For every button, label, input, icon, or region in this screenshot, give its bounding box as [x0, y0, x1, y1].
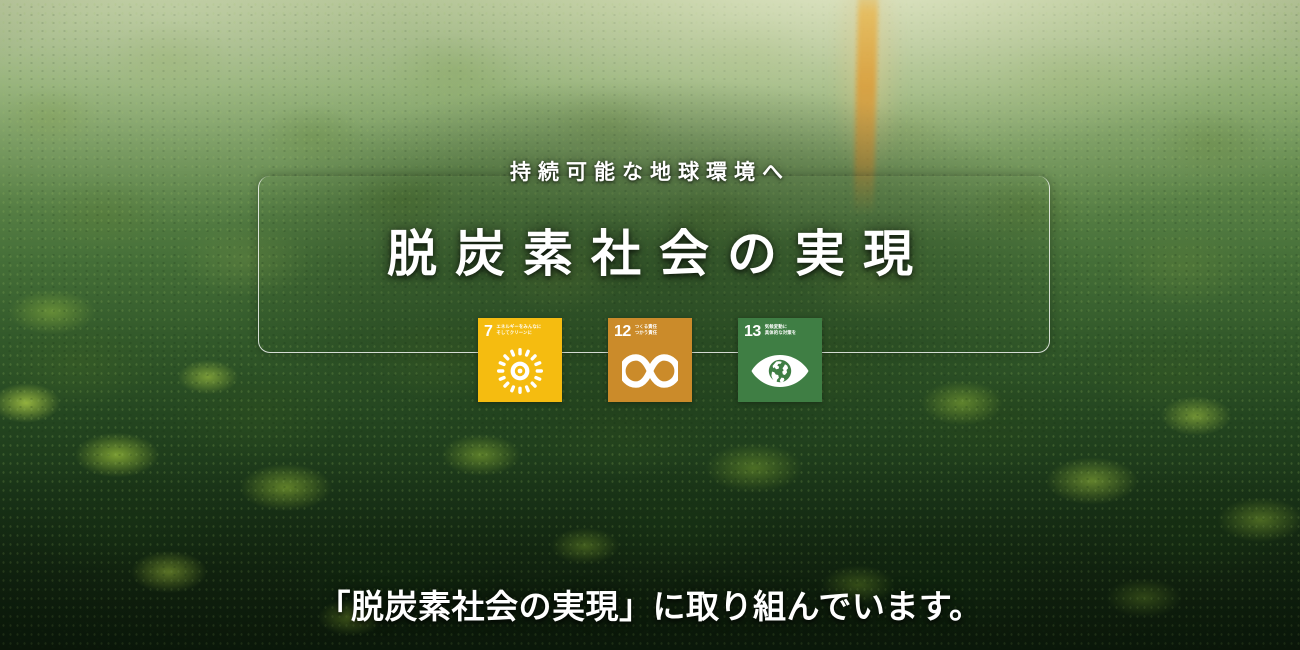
sdg-tile-7-number: 7 — [484, 324, 492, 340]
hero-caption: 「脱炭素社会の実現」に取り組んでいます。 — [0, 580, 1300, 628]
sdg-tile-12[interactable]: 12 つくる責任 つかう責任 — [608, 318, 692, 402]
sdg-tile-13[interactable]: 13 気候変動に 具体的な対策を — [738, 318, 822, 402]
hero-content: 持続可能な地球環境へ 脱炭素社会の実現 7 エネルギーをみんなに そしてクリーン… — [0, 0, 1300, 650]
sdg-tile-13-label: 気候変動に 具体的な対策を — [765, 324, 796, 336]
hero-eyebrow: 持続可能な地球環境へ — [0, 156, 1300, 186]
sdg-tile-13-label-line2: 具体的な対策を — [765, 331, 796, 336]
sdg-tile-13-label-line1: 気候変動に — [765, 325, 796, 330]
hero-headline: 脱炭素社会の実現 — [0, 227, 1300, 282]
sdg-tile-12-label-line2: つかう責任 — [635, 331, 657, 336]
sdg-tile-7-head: 7 エネルギーをみんなに そしてクリーンに — [478, 318, 562, 344]
sdg-tile-12-label: つくる責任 つかう責任 — [635, 324, 657, 336]
sun-icon — [478, 344, 562, 402]
sdg-tile-12-number: 12 — [614, 324, 631, 340]
sdg-tile-7-label: エネルギーをみんなに そしてクリーンに — [496, 324, 541, 336]
sdg-tile-7[interactable]: 7 エネルギーをみんなに そしてクリーンに — [478, 318, 562, 402]
infinity-loop-icon — [608, 344, 692, 402]
eye-globe-icon — [738, 344, 822, 402]
sdg-tile-12-label-line1: つくる責任 — [635, 325, 657, 330]
sdg-goal-row: 7 エネルギーをみんなに そしてクリーンに — [478, 318, 822, 402]
sdg-tile-13-head: 13 気候変動に 具体的な対策を — [738, 318, 822, 344]
hero-banner: 持続可能な地球環境へ 脱炭素社会の実現 7 エネルギーをみんなに そしてクリーン… — [0, 0, 1300, 650]
sdg-tile-13-number: 13 — [744, 324, 761, 340]
sdg-tile-7-label-line2: そしてクリーンに — [496, 331, 541, 336]
sdg-tile-12-head: 12 つくる責任 つかう責任 — [608, 318, 692, 344]
sdg-tile-7-label-line1: エネルギーをみんなに — [496, 325, 541, 330]
eyebrow-frame-gap — [0, 173, 1300, 180]
